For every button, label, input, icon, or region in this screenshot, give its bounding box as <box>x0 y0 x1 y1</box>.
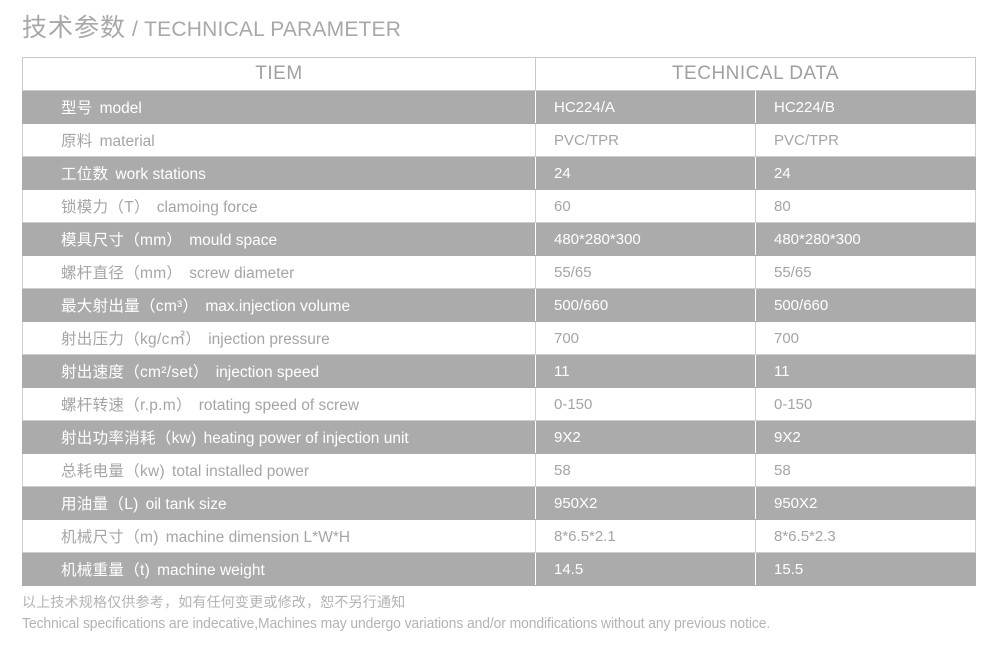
column-header-item: TIEM <box>23 58 536 91</box>
row-item-label-cn: 最大射出量（cm³） <box>61 298 198 315</box>
row-value-model-b: 9X2 <box>756 421 976 454</box>
row-value-model-b: 55/65 <box>756 256 976 289</box>
row-value-model-b: 8*6.5*2.3 <box>756 520 976 553</box>
row-value-model-b: 24 <box>756 157 976 190</box>
row-value-model-b: HC224/B <box>756 91 976 124</box>
row-item-label-en: rotating speed of screw <box>199 397 359 414</box>
footnote: 以上技术规格仅供参考，如有任何变更或修改，恕不另行通知 Technical sp… <box>22 592 801 632</box>
row-item-label: 射出速度（cm²/set）injection speed <box>23 355 536 388</box>
row-value-model-a: 480*280*300 <box>536 223 756 256</box>
row-item-label-en: machine dimension L*W*H <box>166 529 350 546</box>
row-value-model-b: 0-150 <box>756 388 976 421</box>
row-value-model-a: 9X2 <box>536 421 756 454</box>
page-title: 技术参数 / TECHNICAL PARAMETER <box>22 8 401 44</box>
row-value-model-b: 11 <box>756 355 976 388</box>
row-item-label-en: heating power of injection unit <box>204 430 409 447</box>
row-item-label-cn: 原料 <box>61 133 93 150</box>
row-item-label-en: material <box>100 133 155 150</box>
row-item-label: 总耗电量（kw)total installed power <box>23 454 536 487</box>
row-item-label-en: work stations <box>115 166 205 183</box>
row-item-label-en: clamoing force <box>157 199 258 216</box>
row-item-label-cn: 锁模力（T） <box>61 199 150 216</box>
row-item-label: 工位数work stations <box>23 157 536 190</box>
row-item-label-en: total installed power <box>172 463 309 480</box>
row-value-model-b: 80 <box>756 190 976 223</box>
table-row: 机械尺寸（m)machine dimension L*W*H8*6.5*2.18… <box>23 520 976 553</box>
row-value-model-a: 14.5 <box>536 553 756 586</box>
row-value-model-a: HC224/A <box>536 91 756 124</box>
row-item-label: 机械尺寸（m)machine dimension L*W*H <box>23 520 536 553</box>
table-row: 射出功率消耗（kw)heating power of injection uni… <box>23 421 976 454</box>
table-body: 型号modelHC224/AHC224/B原料materialPVC/TPRPV… <box>23 91 976 586</box>
row-value-model-b: 480*280*300 <box>756 223 976 256</box>
row-item-label: 最大射出量（cm³）max.injection volume <box>23 289 536 322</box>
row-item-label-cn: 用油量（L) <box>61 496 139 513</box>
row-value-model-a: 58 <box>536 454 756 487</box>
row-item-label: 机械重量（t)machine weight <box>23 553 536 586</box>
page-title-cn: 技术参数 <box>22 14 126 42</box>
row-item-label-en: mould space <box>189 232 277 249</box>
row-item-label-cn: 工位数 <box>61 166 108 183</box>
row-value-model-a: 8*6.5*2.1 <box>536 520 756 553</box>
row-value-model-b: 58 <box>756 454 976 487</box>
table-row: 模具尺寸（mm）mould space480*280*300480*280*30… <box>23 223 976 256</box>
table-row: 用油量（L)oil tank size950X2950X2 <box>23 487 976 520</box>
table-row: 最大射出量（cm³）max.injection volume500/660500… <box>23 289 976 322</box>
footnote-en: Technical specifications are indecative,… <box>22 616 770 632</box>
row-value-model-a: 500/660 <box>536 289 756 322</box>
row-value-model-a: 0-150 <box>536 388 756 421</box>
row-item-label-cn: 射出功率消耗（kw) <box>61 430 197 447</box>
row-item-label-en: screw diameter <box>189 265 294 282</box>
row-item-label-cn: 射出速度（cm²/set） <box>61 364 209 381</box>
column-header-technical-data: TECHNICAL DATA <box>536 58 976 91</box>
table-row: 螺杆直径（mm）screw diameter55/6555/65 <box>23 256 976 289</box>
row-item-label: 射出压力（kg/c㎡）injection pressure <box>23 322 536 355</box>
page-title-separator: / <box>126 18 144 41</box>
row-value-model-a: 55/65 <box>536 256 756 289</box>
row-value-model-b: 15.5 <box>756 553 976 586</box>
row-value-model-a: 11 <box>536 355 756 388</box>
row-item-label-cn: 螺杆直径（mm） <box>61 265 182 282</box>
row-item-label-en: oil tank size <box>146 496 227 513</box>
row-item-label: 用油量（L)oil tank size <box>23 487 536 520</box>
row-item-label-cn: 螺杆转速（r.p.m） <box>61 397 192 414</box>
row-value-model-a: 24 <box>536 157 756 190</box>
row-item-label-en: model <box>100 100 142 117</box>
row-item-label-cn: 机械重量（t) <box>61 562 150 579</box>
table-row: 型号modelHC224/AHC224/B <box>23 91 976 124</box>
table-row: 总耗电量（kw)total installed power5858 <box>23 454 976 487</box>
row-item-label: 射出功率消耗（kw)heating power of injection uni… <box>23 421 536 454</box>
row-item-label-cn: 射出压力（kg/c㎡） <box>61 331 201 348</box>
table-row: 螺杆转速（r.p.m）rotating speed of screw0-1500… <box>23 388 976 421</box>
row-value-model-a: 60 <box>536 190 756 223</box>
row-item-label-en: machine weight <box>157 562 265 579</box>
row-item-label: 锁模力（T）clamoing force <box>23 190 536 223</box>
row-value-model-a: 700 <box>536 322 756 355</box>
footnote-cn: 以上技术规格仅供参考，如有任何变更或修改，恕不另行通知 <box>22 592 801 612</box>
table-header-row: TIEM TECHNICAL DATA <box>23 58 976 91</box>
row-item-label-en: max.injection volume <box>205 298 350 315</box>
row-item-label: 原料material <box>23 124 536 157</box>
row-item-label: 螺杆转速（r.p.m）rotating speed of screw <box>23 388 536 421</box>
page-title-en: TECHNICAL PARAMETER <box>144 18 401 41</box>
row-item-label-en: injection pressure <box>208 331 329 348</box>
table-row: 射出速度（cm²/set）injection speed1111 <box>23 355 976 388</box>
table-row: 工位数work stations2424 <box>23 157 976 190</box>
row-item-label: 螺杆直径（mm）screw diameter <box>23 256 536 289</box>
table-row: 机械重量（t)machine weight14.515.5 <box>23 553 976 586</box>
row-item-label-cn: 模具尺寸（mm） <box>61 232 182 249</box>
row-value-model-a: 950X2 <box>536 487 756 520</box>
row-value-model-b: 950X2 <box>756 487 976 520</box>
row-value-model-a: PVC/TPR <box>536 124 756 157</box>
row-value-model-b: PVC/TPR <box>756 124 976 157</box>
technical-parameter-table: TIEM TECHNICAL DATA 型号modelHC224/AHC224/… <box>22 57 976 586</box>
row-value-model-b: 700 <box>756 322 976 355</box>
row-item-label-en: injection speed <box>216 364 319 381</box>
table-row: 锁模力（T）clamoing force6080 <box>23 190 976 223</box>
table-row: 射出压力（kg/c㎡）injection pressure700700 <box>23 322 976 355</box>
row-item-label-cn: 机械尺寸（m) <box>61 529 159 546</box>
row-item-label-cn: 总耗电量（kw) <box>61 463 165 480</box>
row-item-label: 模具尺寸（mm）mould space <box>23 223 536 256</box>
row-item-label-cn: 型号 <box>61 100 93 117</box>
row-value-model-b: 500/660 <box>756 289 976 322</box>
table-row: 原料materialPVC/TPRPVC/TPR <box>23 124 976 157</box>
row-item-label: 型号model <box>23 91 536 124</box>
